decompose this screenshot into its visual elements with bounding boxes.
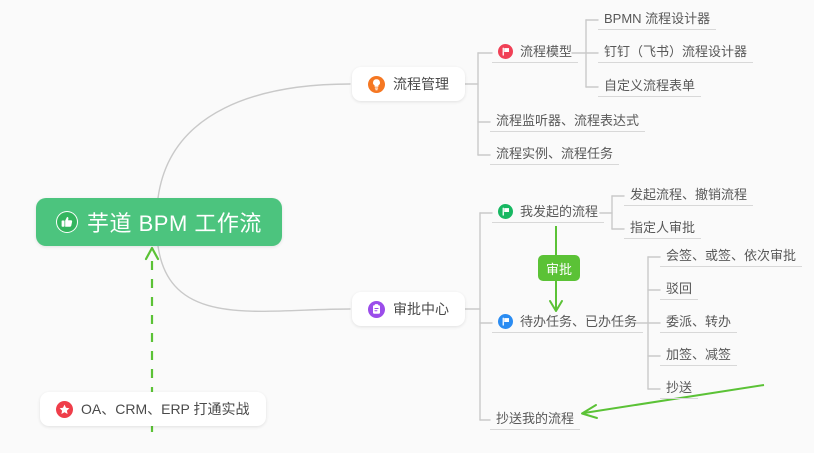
node-cc-to-me-process-label: 抄送我的流程 — [496, 411, 574, 426]
branch-process-management-label: 流程管理 — [393, 74, 449, 94]
clipboard-icon — [368, 301, 385, 318]
node-start-cancel-process-label: 发起流程、撤销流程 — [630, 187, 747, 202]
node-custom-process-form-label: 自定义流程表单 — [604, 78, 695, 93]
node-add-remove-sign[interactable]: 加签、减签 — [660, 344, 737, 366]
approval-badge[interactable]: 审批 — [538, 255, 580, 281]
node-start-cancel-process[interactable]: 发起流程、撤销流程 — [624, 184, 753, 206]
flag-icon — [498, 204, 513, 219]
node-assignee-approval[interactable]: 指定人审批 — [624, 217, 701, 239]
branch-approval-center-label: 审批中心 — [393, 299, 449, 319]
node-add-remove-sign-label: 加签、减签 — [666, 347, 731, 362]
node-todo-done-tasks-label: 待办任务、已办任务 — [520, 314, 637, 329]
node-process-model-label: 流程模型 — [520, 44, 572, 59]
root-node[interactable]: 芋道 BPM 工作流 — [36, 198, 282, 246]
node-reject[interactable]: 驳回 — [660, 278, 698, 300]
node-delegate-transfer[interactable]: 委派、转办 — [660, 311, 737, 333]
star-icon — [56, 401, 73, 418]
node-process-listener-expression-label: 流程监听器、流程表达式 — [496, 113, 639, 128]
flag-icon — [498, 314, 513, 329]
node-reject-label: 驳回 — [666, 281, 692, 296]
node-my-initiated-process-label: 我发起的流程 — [520, 204, 598, 219]
node-todo-done-tasks[interactable]: 待办任务、已办任务 — [492, 311, 643, 333]
node-dingtalk-feishu-designer-label: 钉钉（飞书）流程设计器 — [604, 44, 747, 59]
node-cc-to-me-process[interactable]: 抄送我的流程 — [490, 408, 580, 430]
node-cc-label: 抄送 — [666, 380, 692, 395]
branch-approval-center[interactable]: 审批中心 — [352, 292, 465, 326]
node-bpmn-designer[interactable]: BPMN 流程设计器 — [598, 8, 716, 30]
branch-process-management[interactable]: 流程管理 — [352, 67, 465, 101]
node-counter-or-sequential-sign[interactable]: 会签、或签、依次审批 — [660, 245, 802, 267]
flag-icon — [498, 44, 513, 59]
integration-note-label: OA、CRM、ERP 打通实战 — [81, 399, 250, 419]
arrow-cc-to-ccme-head — [582, 405, 597, 418]
thumbs-up-icon — [56, 211, 78, 233]
root-label: 芋道 BPM 工作流 — [87, 206, 262, 238]
connector-root-to-process-management — [158, 84, 350, 198]
node-dingtalk-feishu-designer[interactable]: 钉钉（飞书）流程设计器 — [598, 41, 753, 63]
node-counter-or-sequential-sign-label: 会签、或签、依次审批 — [666, 248, 796, 263]
node-delegate-transfer-label: 委派、转办 — [666, 314, 731, 329]
node-my-initiated-process[interactable]: 我发起的流程 — [492, 201, 604, 223]
node-cc[interactable]: 抄送 — [660, 377, 698, 399]
node-process-instance-task-label: 流程实例、流程任务 — [496, 146, 613, 161]
lightbulb-icon — [368, 76, 385, 93]
node-process-instance-task[interactable]: 流程实例、流程任务 — [490, 143, 619, 165]
mindmap-canvas: 芋道 BPM 工作流 流程管理 流程模型 BPMN 流程设计器 钉钉（飞书 — [0, 0, 814, 453]
approval-badge-label: 审批 — [546, 259, 572, 278]
node-process-model[interactable]: 流程模型 — [492, 41, 578, 63]
arrow-integration-to-root-head — [146, 248, 158, 259]
node-custom-process-form[interactable]: 自定义流程表单 — [598, 75, 701, 97]
node-process-listener-expression[interactable]: 流程监听器、流程表达式 — [490, 110, 645, 132]
connector-root-to-approval-center — [158, 246, 350, 311]
integration-note-card[interactable]: OA、CRM、ERP 打通实战 — [40, 392, 266, 426]
node-bpmn-designer-label: BPMN 流程设计器 — [604, 11, 710, 26]
arrow-badge-to-todo-head — [550, 301, 562, 311]
node-assignee-approval-label: 指定人审批 — [630, 220, 695, 235]
